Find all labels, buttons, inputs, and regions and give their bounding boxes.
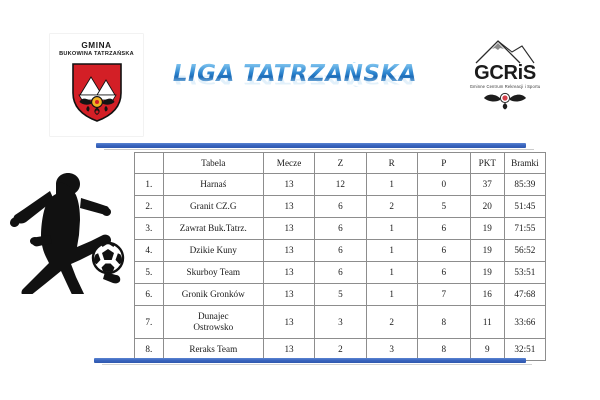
cell-z: 6 xyxy=(315,196,366,218)
cell-rank: 5. xyxy=(135,262,164,284)
header-p: P xyxy=(417,153,470,174)
cell-team: Gronik Gronków xyxy=(163,284,263,306)
gmina-logo-title: GMINA xyxy=(50,42,143,50)
cell-z: 6 xyxy=(315,218,366,240)
cell-rank: 2. xyxy=(135,196,164,218)
cell-rank: 1. xyxy=(135,174,164,196)
cell-bramki: 85:39 xyxy=(504,174,545,196)
table-row: 2.Granit CZ.G136252051:45 xyxy=(135,196,546,218)
cell-r: 2 xyxy=(366,306,417,339)
cell-bramki: 51:45 xyxy=(504,196,545,218)
standings-table-container: Tabela Mecze Z R P PKT Bramki 1.Harnaś13… xyxy=(134,152,546,361)
cell-pkt: 11 xyxy=(470,306,504,339)
cell-team: DunajecOstrowsko xyxy=(163,306,263,339)
cell-team: Zawrat Buk.Tatrz. xyxy=(163,218,263,240)
cell-bramki: 47:68 xyxy=(504,284,545,306)
cell-team: Granit CZ.G xyxy=(163,196,263,218)
standings-table: Tabela Mecze Z R P PKT Bramki 1.Harnaś13… xyxy=(134,152,546,361)
table-row: 3.Zawrat Buk.Tatrz.136161971:55 xyxy=(135,218,546,240)
header-mecze: Mecze xyxy=(263,153,314,174)
cell-z: 3 xyxy=(315,306,366,339)
table-row: 4.Dzikie Kuny136161956:52 xyxy=(135,240,546,262)
footballer-silhouette-icon xyxy=(6,166,130,294)
divider-bar-bottom-shadow xyxy=(102,364,532,365)
cell-r: 1 xyxy=(366,218,417,240)
cell-team: Harnaś xyxy=(163,174,263,196)
slide-header: GMINA BUKOWINA TATRZAŃSKA xyxy=(0,30,600,140)
divider-bar-top-shadow xyxy=(104,149,534,150)
cell-rank: 6. xyxy=(135,284,164,306)
cell-pkt: 19 xyxy=(470,218,504,240)
cell-p: 7 xyxy=(417,284,470,306)
cell-pkt: 37 xyxy=(470,174,504,196)
gmina-logo-subtitle: BUKOWINA TATRZAŃSKA xyxy=(50,52,143,58)
cell-rank: 4. xyxy=(135,240,164,262)
cell-p: 8 xyxy=(417,306,470,339)
team-name-line-1: Dunajec xyxy=(164,311,263,322)
table-row: 5.Skurboy Team136161953:51 xyxy=(135,262,546,284)
cell-rank: 7. xyxy=(135,306,164,339)
cell-z: 5 xyxy=(315,284,366,306)
cell-pkt: 19 xyxy=(470,262,504,284)
cell-z: 6 xyxy=(315,262,366,284)
table-row: 1.Harnaś1312103785:39 xyxy=(135,174,546,196)
cell-p: 0 xyxy=(417,174,470,196)
cell-bramki: 56:52 xyxy=(504,240,545,262)
gcris-logo-subtitle: Gminne Centrum Rekreacji i Sportu xyxy=(452,85,558,89)
cell-pkt: 20 xyxy=(470,196,504,218)
cell-p: 6 xyxy=(417,240,470,262)
header-bramki: Bramki xyxy=(504,153,545,174)
cell-r: 1 xyxy=(366,284,417,306)
header-z: Z xyxy=(315,153,366,174)
team-name-line-2: Ostrowsko xyxy=(164,322,263,333)
divider-bar-bottom xyxy=(94,358,526,363)
cell-team: Skurboy Team xyxy=(163,262,263,284)
cell-p: 6 xyxy=(417,262,470,284)
cell-p: 5 xyxy=(417,196,470,218)
cell-r: 2 xyxy=(366,196,417,218)
cell-bramki: 71:55 xyxy=(504,218,545,240)
gcris-logo-title: GCRiS xyxy=(452,63,558,83)
header-pkt: PKT xyxy=(470,153,504,174)
cell-mecze: 13 xyxy=(263,174,314,196)
cell-pkt: 16 xyxy=(470,284,504,306)
cell-bramki: 53:51 xyxy=(504,262,545,284)
header-tabela: Tabela xyxy=(163,153,263,174)
cell-mecze: 13 xyxy=(263,262,314,284)
cell-rank: 3. xyxy=(135,218,164,240)
cell-mecze: 13 xyxy=(263,196,314,218)
gcris-mountain-icon xyxy=(452,38,558,64)
cell-r: 1 xyxy=(366,174,417,196)
page-title: LIGA TATRZAŃSKA xyxy=(160,62,430,86)
cell-mecze: 13 xyxy=(263,306,314,339)
gcris-logo: GCRiS Gminne Centrum Rekreacji i Sportu xyxy=(452,38,558,130)
cell-z: 12 xyxy=(315,174,366,196)
cell-team: Dzikie Kuny xyxy=(163,240,263,262)
table-row: 6.Gronik Gronków135171647:68 xyxy=(135,284,546,306)
standings-table-body: 1.Harnaś1312103785:392.Granit CZ.G136252… xyxy=(135,174,546,361)
gmina-crest-icon xyxy=(50,61,143,123)
cell-mecze: 13 xyxy=(263,218,314,240)
cell-p: 6 xyxy=(417,218,470,240)
cell-mecze: 13 xyxy=(263,284,314,306)
cell-r: 1 xyxy=(366,262,417,284)
header-r: R xyxy=(366,153,417,174)
cell-r: 1 xyxy=(366,240,417,262)
table-header-row: Tabela Mecze Z R P PKT Bramki xyxy=(135,153,546,174)
divider-bar-top xyxy=(96,143,526,148)
cell-bramki: 33:66 xyxy=(504,306,545,339)
header-rank xyxy=(135,153,164,174)
cell-mecze: 13 xyxy=(263,240,314,262)
gcris-ornament-icon xyxy=(452,90,558,110)
gmina-logo: GMINA BUKOWINA TATRZAŃSKA xyxy=(50,34,143,136)
table-row: 7.DunajecOstrowsko133281133:66 xyxy=(135,306,546,339)
slide-canvas: GMINA BUKOWINA TATRZAŃSKA xyxy=(0,0,600,400)
cell-pkt: 19 xyxy=(470,240,504,262)
cell-z: 6 xyxy=(315,240,366,262)
